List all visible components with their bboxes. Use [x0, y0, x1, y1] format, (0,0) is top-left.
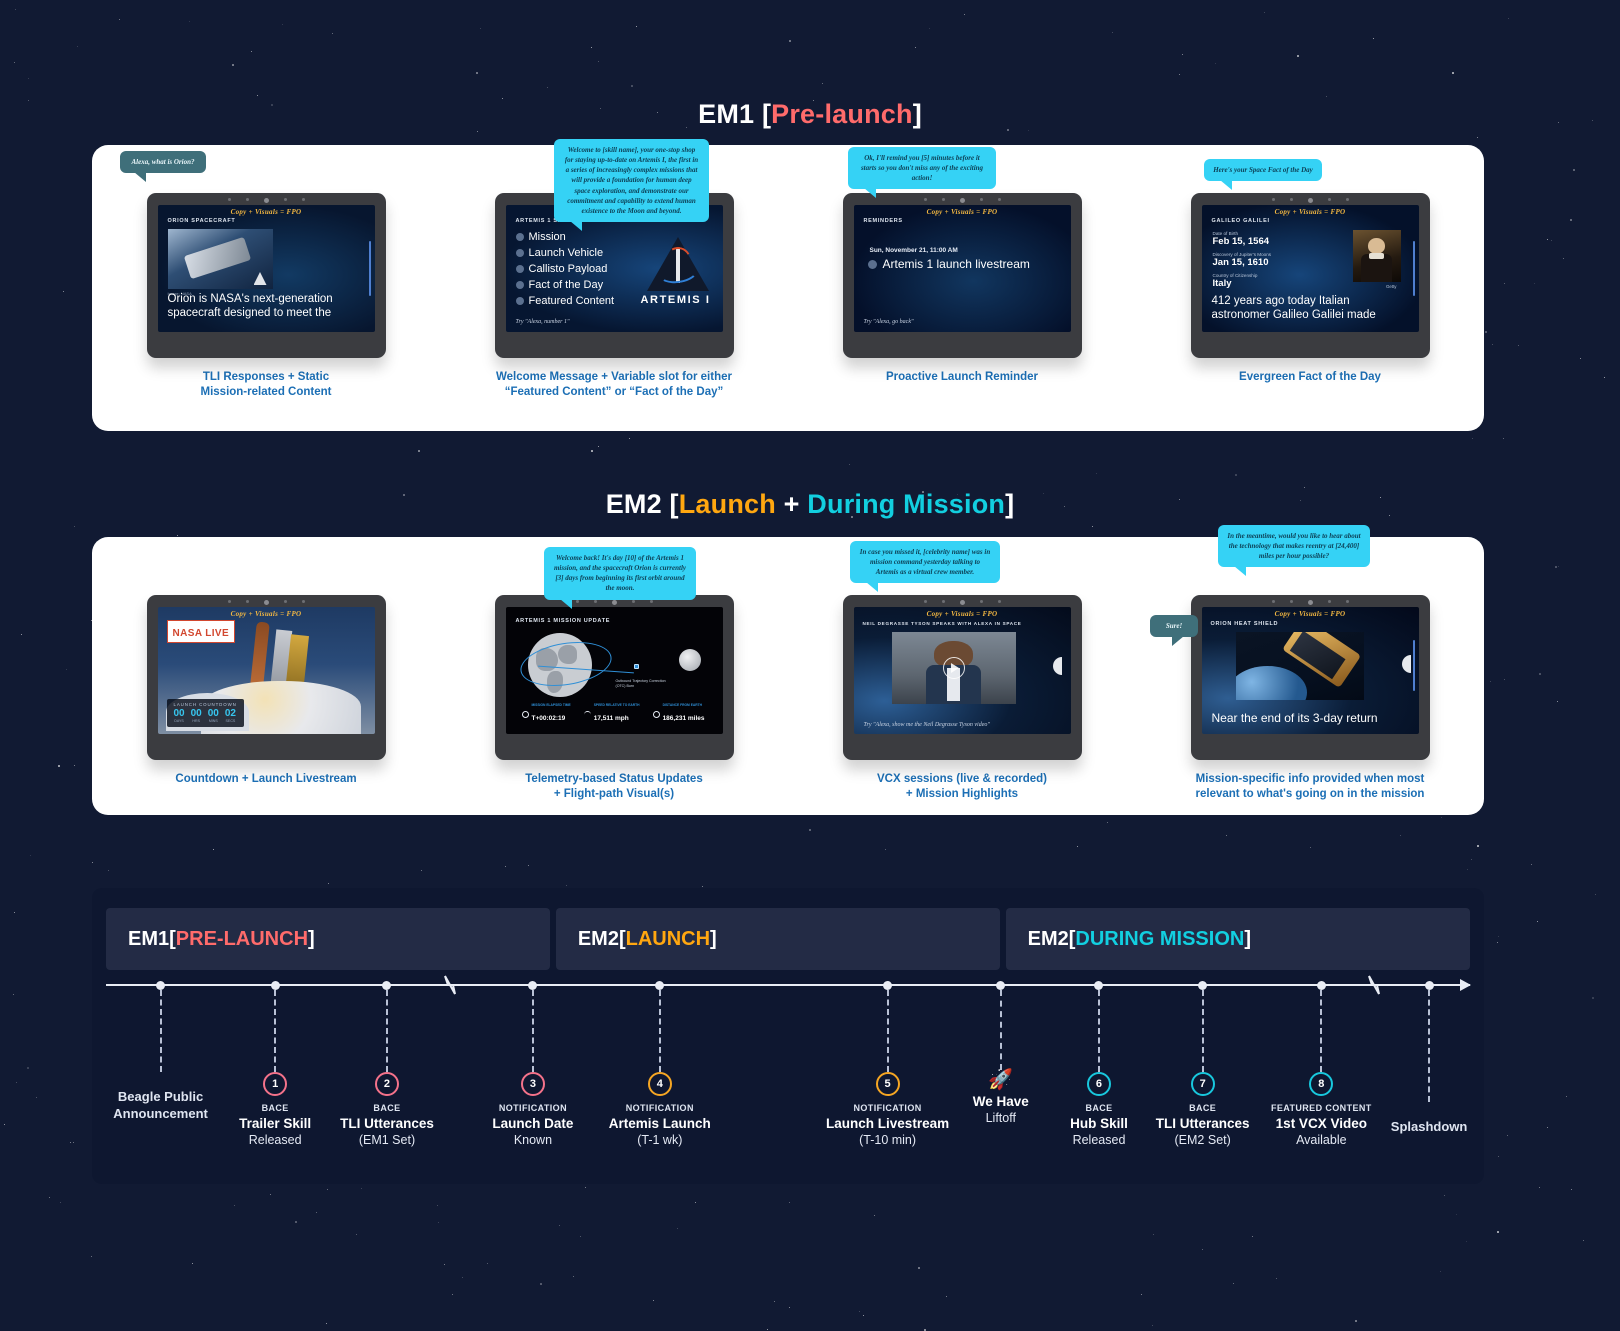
tick-kicker: BACE — [1189, 1103, 1216, 1113]
tick-kicker: FEATURED CONTENT — [1271, 1103, 1372, 1113]
clock-icon — [522, 711, 529, 718]
echo-show-device[interactable]: Copy + Visuals = FPO NASA LIVE L — [147, 595, 386, 760]
menu-item-label[interactable]: Fact of the Day — [529, 279, 604, 291]
phase-prefix: EM2 — [1028, 928, 1069, 951]
tick-title: We Have — [973, 1094, 1029, 1109]
tick-plain-label: Beagle PublicAnnouncement — [113, 1088, 208, 1123]
stat-label: MISSION ELAPSED TIME — [532, 703, 571, 707]
tick-dashed-line — [1000, 990, 1002, 1070]
device-caption: Mission-specific info provided when most… — [1196, 772, 1425, 802]
tick-badge[interactable]: 3 — [521, 1072, 545, 1096]
tick-badge[interactable]: 2 — [375, 1072, 399, 1096]
tick-badge[interactable]: 6 — [1087, 1072, 1111, 1096]
tick-title: Trailer Skill — [239, 1116, 311, 1131]
tick-dashed-line — [1428, 990, 1430, 1102]
countdown-label: DAYS — [174, 719, 185, 723]
rocket-icon: 🚀 — [988, 1070, 1013, 1090]
reminder-item-row[interactable]: Artemis 1 launch livestream — [868, 257, 1030, 271]
tick-dashed-line — [532, 990, 534, 1072]
mic-array — [495, 600, 734, 605]
tick-kicker: NOTIFICATION — [854, 1103, 922, 1113]
tick-kicker: NOTIFICATION — [499, 1103, 567, 1113]
echo-show-device[interactable]: Copy + Visuals = FPO ORION HEAT SHIELD N… — [1191, 595, 1430, 760]
user-bubble: Alexa, what is Orion? — [120, 151, 206, 173]
artemis-badge-text: ARTEMIS I — [640, 294, 710, 306]
tick-dashed-line — [1098, 990, 1100, 1072]
em2-title-accent-launch: Launch — [679, 489, 776, 519]
tick-kicker: BACE — [262, 1103, 289, 1113]
nasa-live-label: NASA LIVE — [173, 628, 230, 639]
phase-bracket-open: [ — [619, 928, 626, 951]
stat-label: SPEED RELATIVE TO EARTH — [594, 703, 640, 707]
fact-list: Date of Birth Feb 15, 1564 Discovery of … — [1213, 231, 1272, 289]
em2-bracket-close: ] — [1005, 489, 1014, 519]
em1-title-prefix: EM1 — [698, 99, 762, 129]
menu-item-label[interactable]: Launch Vehicle — [529, 247, 604, 259]
tick-dot — [271, 981, 280, 990]
phase-bracket-open: [ — [1069, 928, 1076, 951]
tick-dot — [1094, 981, 1103, 990]
telemetry-stats: MISSION ELAPSED TIMET+00:02:19 SPEED REL… — [522, 703, 711, 725]
nasa-live-badge: NASA LIVE — [167, 620, 236, 643]
device-screen[interactable]: Copy + Visuals = FPO ORION HEAT SHIELD N… — [1202, 607, 1419, 734]
tick-dashed-line — [274, 990, 276, 1072]
tick-subtitle: Released — [249, 1133, 302, 1147]
countdown-label: MINS — [208, 719, 219, 723]
tick-title: 1st VCX Video — [1276, 1116, 1367, 1131]
tick-dashed-line — [1202, 990, 1204, 1072]
mic-array — [147, 600, 386, 605]
tick-title: TLI Utterances — [1156, 1116, 1250, 1131]
device-caption: TLI Responses + Static Mission-related C… — [201, 370, 332, 400]
device-caption: Welcome Message + Variable slot for eith… — [496, 370, 732, 400]
device-screen[interactable]: Copy + Visuals = FPO REMINDERS Sun, Nove… — [854, 205, 1071, 332]
reminder-item: Artemis 1 launch livestream — [883, 257, 1030, 271]
tick-dot — [156, 981, 165, 990]
tick-subtitle: (EM2 Set) — [1175, 1133, 1231, 1147]
em1-device-4: Here's your Space Fact of the Day Copy +… — [1136, 145, 1484, 431]
countdown-panel: LAUNCH COUNTDOWN 00DAYS 00HRS 00MINS 02S… — [167, 699, 244, 727]
device-caption: Proactive Launch Reminder — [886, 370, 1038, 385]
tick-dashed-line — [659, 990, 661, 1072]
menu-item-label[interactable]: Mission — [529, 231, 566, 243]
screen-kicker: NEIL DEGRASSE TYSON SPEAKS WITH ALEXA IN… — [863, 621, 1022, 626]
device-caption: Evergreen Fact of the Day — [1239, 370, 1381, 385]
phase-prefix: EM2 — [578, 928, 619, 951]
tick-plain-label: Splashdown — [1391, 1118, 1468, 1136]
scrollbar[interactable] — [369, 241, 371, 297]
em2-device-1: Copy + Visuals = FPO NASA LIVE L — [92, 537, 440, 815]
section-title-em1: EM1 [Pre-launch] — [0, 99, 1620, 130]
phase-bracket-close: ] — [710, 928, 717, 951]
timeline-ticks: Beagle PublicAnnouncement1BACETrailer Sk… — [106, 984, 1470, 1164]
em2-device-3: In case you missed it, [celebrity name] … — [788, 537, 1136, 815]
mic-array — [843, 198, 1082, 203]
orbit-path — [517, 636, 614, 692]
countdown-value: 02 — [225, 708, 236, 719]
tick-title: TLI Utterances — [340, 1116, 434, 1131]
screen-hint: Try "Alexa, number 1" — [516, 319, 570, 325]
screen-kicker: ORION HEAT SHIELD — [1211, 621, 1279, 627]
heat-shield-image — [1236, 632, 1364, 700]
em2-title-prefix: EM2 — [606, 489, 670, 519]
screen-kicker: ARTEMIS 1 MISSION UPDATE — [516, 618, 611, 624]
section-title-em2: EM2 [Launch + During Mission] — [0, 489, 1620, 520]
countdown-value: 00 — [174, 708, 185, 719]
echo-show-device[interactable]: Copy + Visuals = FPO NEIL DEGRASSE TYSON… — [843, 595, 1082, 760]
stat-label: DISTANCE FROM EARTH — [663, 703, 705, 707]
artemis-logo — [647, 237, 709, 299]
tick-dot — [655, 981, 664, 990]
tick-title: Artemis Launch — [609, 1116, 711, 1131]
fact-value: Feb 15, 1564 — [1213, 236, 1272, 247]
fpo-label: Copy + Visuals = FPO — [1202, 208, 1419, 216]
phase-bracket-close: ] — [308, 928, 315, 951]
moon-graphic — [1402, 655, 1411, 673]
trajectory-annotation: Outbound Trajectory Correction (OTC) Bur… — [616, 679, 676, 688]
echo-show-device[interactable]: Copy + Visuals = FPO ORION SPACECRAFT Im… — [147, 193, 386, 358]
em1-panel: Alexa, what is Orion? Copy + Visuals = F… — [92, 145, 1484, 431]
tick-dot — [1198, 981, 1207, 990]
alexa-bubble: Here's your Space Fact of the Day — [1204, 159, 1322, 181]
phase-prefix: EM1 — [128, 928, 169, 951]
phase-em1-prelaunch[interactable]: EM1 [PRE-LAUNCH] — [106, 908, 550, 970]
tick-dashed-line — [1320, 990, 1322, 1072]
video-player[interactable] — [892, 632, 1016, 704]
echo-show-device[interactable]: Copy + Visuals = FPO REMINDERS Sun, Nove… — [843, 193, 1082, 358]
device-screen[interactable]: Copy + Visuals = FPO GALILEO GALILEI Dat… — [1202, 205, 1419, 332]
moon-graphic — [1053, 657, 1062, 675]
tick-dot — [382, 981, 391, 990]
em1-device-2: Welcome to [skill name], your one-stop s… — [440, 145, 788, 431]
device-screen[interactable]: Copy + Visuals = FPO ARTEMIS 1 SKILL Mis… — [506, 205, 723, 332]
screen-headline: Near the end of its 3-day return — [1212, 711, 1409, 726]
stat-value: 186,231 miles — [663, 715, 705, 722]
tick-dot — [1317, 981, 1326, 990]
em1-device-3: Ok, I'll remind you [5] minutes before i… — [788, 145, 1136, 431]
tick-badge[interactable]: 4 — [648, 1072, 672, 1096]
alexa-bubble: Welcome to [skill name], your one-stop s… — [554, 139, 709, 222]
phase-bracket-close: ] — [1244, 928, 1251, 951]
fact-value: Jan 15, 1610 — [1213, 257, 1272, 268]
phase-em2-during-mission[interactable]: EM2 [DURING MISSION] — [1006, 908, 1470, 970]
echo-show-device[interactable]: Copy + Visuals = FPO GALILEO GALILEI Dat… — [1191, 193, 1430, 358]
countdown-label: HRS — [191, 719, 202, 723]
tick-subtitle: Released — [1073, 1133, 1126, 1147]
tick-subtitle: Available — [1296, 1133, 1347, 1147]
device-caption: VCX sessions (live & recorded) + Mission… — [877, 772, 1047, 802]
countdown-title: LAUNCH COUNTDOWN — [174, 702, 237, 707]
tick-dashed-line — [160, 990, 162, 1072]
alexa-bubble: In the meantime, would you like to hear … — [1218, 525, 1370, 567]
phase-accent: LAUNCH — [626, 928, 710, 951]
reminder-date: Sun, November 21, 11:00 AM — [870, 247, 958, 254]
photo-credit: Getty — [1386, 284, 1397, 289]
phase-bracket-open: [ — [169, 928, 176, 951]
fact-value: Italy — [1213, 278, 1272, 289]
device-screen[interactable]: Copy + Visuals = FPO NASA LIVE L — [158, 607, 375, 734]
screen-kicker: REMINDERS — [864, 218, 903, 224]
em1-device-1: Alexa, what is Orion? Copy + Visuals = F… — [92, 145, 440, 431]
em1-bracket-close: ] — [913, 99, 922, 129]
device-screen[interactable]: Copy + Visuals = FPO NEIL DEGRASSE TYSON… — [854, 607, 1071, 734]
menu-item-label[interactable]: Featured Content — [529, 295, 615, 307]
tick-dashed-line — [386, 990, 388, 1072]
tick-subtitle: Known — [514, 1133, 552, 1147]
screen-hint: Try "Alexa, go back" — [864, 319, 914, 325]
echo-show-device[interactable]: ARTEMIS 1 MISSION UPDATE Outbound Trajec… — [495, 595, 734, 760]
countdown-label: SECS — [225, 719, 236, 723]
tick-title: Hub Skill — [1070, 1116, 1128, 1131]
screen-kicker: GALILEO GALILEI — [1212, 218, 1270, 224]
em2-panel: Copy + Visuals = FPO NASA LIVE L — [92, 537, 1484, 815]
alexa-bubble: Ok, I'll remind you [5] minutes before i… — [848, 147, 996, 189]
screen-kicker: ORION SPACECRAFT — [168, 218, 236, 224]
fpo-label: Copy + Visuals = FPO — [854, 610, 1071, 618]
user-bubble: Sure! — [1150, 615, 1198, 637]
fpo-label: Copy + Visuals = FPO — [1202, 610, 1419, 618]
skill-menu-list[interactable]: Mission Launch Vehicle Callisto Payload … — [516, 231, 615, 307]
tick-badge[interactable]: 8 — [1309, 1072, 1333, 1096]
scrollbar[interactable] — [1413, 640, 1415, 691]
tick-title: Launch Livestream — [826, 1116, 949, 1131]
alexa-bubble: Welcome back! It's day [10] of the Artem… — [544, 547, 696, 600]
fpo-label: Copy + Visuals = FPO — [854, 208, 1071, 216]
tick-subtitle: (T-10 min) — [859, 1133, 916, 1147]
orion-spacecraft-image — [168, 229, 273, 289]
countdown-value: 00 — [208, 708, 219, 719]
screen-headline: 412 years ago today Italian astronomer G… — [1212, 294, 1409, 322]
screen-headline: Orion is NASA's next-generation spacecra… — [168, 292, 365, 320]
tick-dot — [1425, 981, 1434, 990]
moon-graphic — [679, 649, 701, 671]
tick-title: Launch Date — [492, 1116, 573, 1131]
fpo-label: Copy + Visuals = FPO — [158, 208, 375, 216]
device-screen[interactable]: ARTEMIS 1 MISSION UPDATE Outbound Trajec… — [506, 607, 723, 734]
mic-array — [1191, 198, 1430, 203]
globe-icon — [653, 711, 660, 718]
em2-bracket-open: [ — [670, 489, 679, 519]
galileo-portrait — [1353, 230, 1401, 282]
alexa-bubble: In case you missed it, [celebrity name] … — [850, 541, 1000, 583]
em1-bracket-open: [ — [762, 99, 771, 129]
phase-em2-launch[interactable]: EM2 [LAUNCH] — [556, 908, 1000, 970]
device-caption: Telemetry-based Status Updates + Flight-… — [525, 772, 702, 802]
phase-accent: DURING MISSION — [1075, 928, 1244, 951]
trajectory-marker — [634, 664, 639, 669]
mic-array — [843, 600, 1082, 605]
device-caption: Countdown + Launch Livestream — [175, 772, 356, 787]
tick-badge[interactable]: 1 — [263, 1072, 287, 1096]
em2-device-4: In the meantime, would you like to hear … — [1136, 537, 1484, 815]
tick-dot — [528, 981, 537, 990]
tick-dot — [883, 981, 892, 990]
tick-badge[interactable]: 7 — [1191, 1072, 1215, 1096]
tick-badge[interactable]: 5 — [876, 1072, 900, 1096]
tick-subtitle: (EM1 Set) — [359, 1133, 415, 1147]
phase-accent: PRE-LAUNCH — [176, 928, 308, 951]
tick-kicker: NOTIFICATION — [626, 1103, 694, 1113]
scrollbar[interactable] — [1413, 241, 1415, 297]
screen-hint: Try "Alexa, show me the Neil Degrasse Ty… — [864, 722, 990, 728]
timeline-section: EM1 [PRE-LAUNCH] EM2 [LAUNCH] EM2 [DURIN… — [92, 888, 1484, 1184]
tick-dashed-line — [887, 990, 889, 1072]
tick-kicker: BACE — [1085, 1103, 1112, 1113]
phase-bar: EM1 [PRE-LAUNCH] EM2 [LAUNCH] EM2 [DURIN… — [106, 908, 1470, 970]
stat-value: 17,511 mph — [594, 715, 629, 722]
stat-value: T+00:02:19 — [532, 715, 566, 722]
mic-array — [147, 198, 386, 203]
tick-kicker: BACE — [373, 1103, 400, 1113]
tick-subtitle: Liftoff — [986, 1111, 1016, 1125]
device-screen[interactable]: Copy + Visuals = FPO ORION SPACECRAFT Im… — [158, 205, 375, 332]
em2-title-plus: + — [776, 489, 807, 519]
mic-array — [1191, 600, 1430, 605]
countdown-value: 00 — [191, 708, 202, 719]
speedometer-icon — [584, 711, 591, 718]
em2-device-2: Welcome back! It's day [10] of the Artem… — [440, 537, 788, 815]
tick-dot — [996, 981, 1005, 990]
em2-title-accent-during: During Mission — [807, 489, 1005, 519]
tick-subtitle: (T-1 wk) — [637, 1133, 682, 1147]
menu-item-label[interactable]: Callisto Payload — [529, 263, 608, 275]
em1-title-accent: Pre-launch — [771, 99, 913, 129]
